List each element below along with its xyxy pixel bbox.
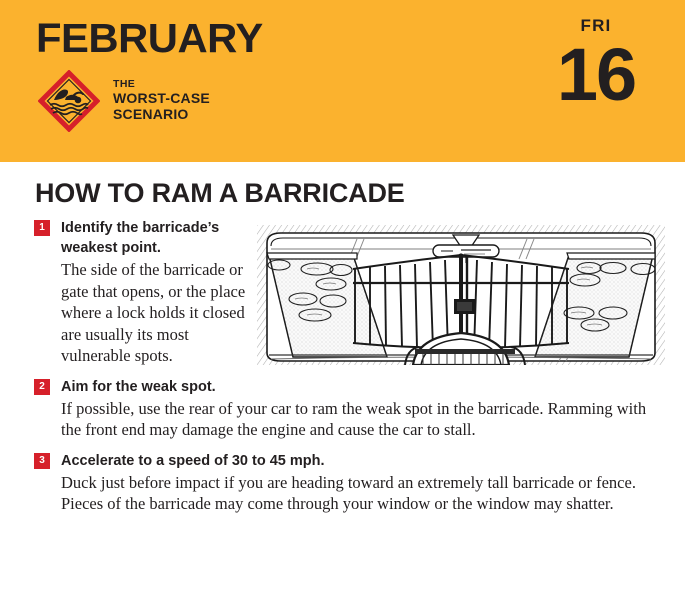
step-heading: Accelerate to a speed of 30 to 45 mph. [61, 451, 656, 471]
step-item: 1 Identify the barricade’s weakest point… [34, 218, 656, 367]
brand-line-worstcase: WORST-CASE [113, 91, 210, 107]
step-number-badge: 3 [34, 453, 50, 469]
date-block: FRI 16 [541, 16, 651, 113]
calendar-page: FEBRUARY [0, 0, 685, 600]
brand-lockup: THE WORST-CASE SCENARIO [38, 70, 210, 132]
page-header: FEBRUARY [0, 0, 685, 162]
step-item: 3 Accelerate to a speed of 30 to 45 mph.… [34, 451, 656, 515]
article-title: HOW TO RAM A BARRICADE [35, 178, 405, 209]
day-number-label: 16 [541, 37, 651, 113]
shark-attack-warning-diamond-icon [38, 70, 100, 132]
steps-list: 1 Identify the barricade’s weakest point… [34, 218, 656, 523]
step-body: Duck just before impact if you are headi… [61, 472, 656, 515]
brand-line-scenario: SCENARIO [113, 107, 210, 123]
step-item: 2 Aim for the weak spot. If possible, us… [34, 377, 656, 441]
brand-wordmark: THE WORST-CASE SCENARIO [113, 79, 210, 122]
step-heading: Aim for the weak spot. [61, 377, 656, 397]
step-number-badge: 1 [34, 220, 50, 236]
page-content: HOW TO RAM A BARRICADE [0, 162, 685, 600]
step-body: The side of the barricade or gate that o… [61, 259, 259, 367]
step-heading: Identify the barricade’s weakest point. [61, 218, 259, 258]
step-body: If possible, use the rear of your car to… [61, 398, 656, 441]
month-label: FEBRUARY [36, 14, 263, 62]
step-number-badge: 2 [34, 379, 50, 395]
